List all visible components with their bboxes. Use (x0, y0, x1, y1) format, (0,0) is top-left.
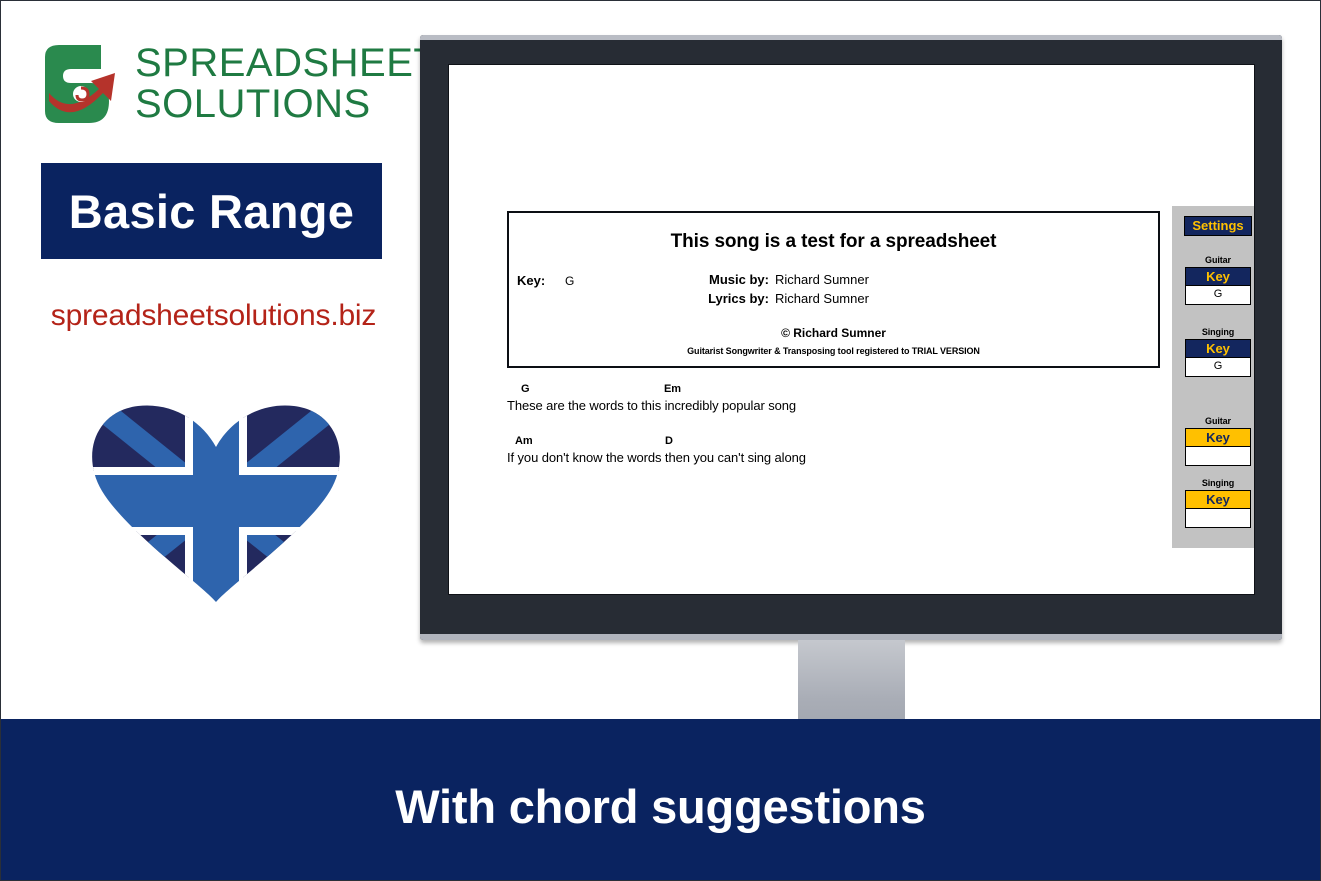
settings-panel: Settings Guitar Key G Singing Key G Guit… (1172, 206, 1255, 548)
settings-title-button[interactable]: Settings (1184, 216, 1252, 236)
credit-row: Lyrics by: Richard Sumner (659, 290, 989, 308)
monitor: This song is a test for a spreadsheet Ke… (420, 35, 1282, 640)
chord[interactable]: Am (515, 435, 533, 447)
lyric-block: G Em These are the words to this incredi… (507, 383, 1067, 413)
key-group-header: Key (1185, 339, 1251, 358)
key-field-label: Key: (517, 273, 545, 288)
logo-row: SPREADSHEET SOLUTIONS (41, 43, 386, 125)
chord-line: Am D (507, 435, 1067, 450)
key-group-caption: Singing (1185, 327, 1251, 337)
key-group-caption: Guitar (1185, 416, 1251, 426)
logo-wordmark: SPREADSHEET SOLUTIONS (135, 43, 438, 125)
key-group-value[interactable] (1185, 447, 1251, 466)
lyric-block: Am D If you don't know the words then yo… (507, 435, 1067, 465)
credit-row: Music by: Richard Sumner (659, 271, 989, 289)
chord[interactable]: G (521, 383, 529, 395)
key-group-value[interactable]: G (1185, 358, 1251, 377)
key-group-guitar-secondary: Guitar Key (1185, 416, 1251, 466)
credit-value-music[interactable]: Richard Sumner (775, 271, 869, 289)
range-banner-label: Basic Range (69, 184, 354, 239)
chord[interactable]: D (665, 435, 673, 447)
footer-tagline: With chord suggestions (1, 779, 1320, 834)
monitor-screen: This song is a test for a spreadsheet Ke… (448, 64, 1255, 595)
key-field-value[interactable]: G (565, 274, 574, 288)
copyright-line: © Richard Sumner (509, 326, 1158, 340)
key-group-header: Key (1185, 267, 1251, 286)
key-group-header: Key (1185, 428, 1251, 447)
key-group-guitar-primary: Guitar Key G (1185, 255, 1251, 305)
song-header-box: This song is a test for a spreadsheet Ke… (507, 211, 1160, 368)
footer-band: With chord suggestions (1, 719, 1320, 880)
union-jack-heart-icon (86, 399, 346, 604)
chord[interactable]: Em (664, 383, 681, 395)
spreadsheet-solutions-logo-icon (41, 43, 119, 125)
credit-value-lyrics[interactable]: Richard Sumner (775, 290, 869, 308)
site-url-text: spreadsheetsolutions.biz (41, 299, 386, 333)
key-group-value[interactable]: G (1185, 286, 1251, 305)
key-group-value[interactable] (1185, 509, 1251, 528)
brand-block: SPREADSHEET SOLUTIONS (41, 43, 386, 125)
key-group-singing-secondary: Singing Key (1185, 478, 1251, 528)
song-title: This song is a test for a spreadsheet (509, 231, 1158, 253)
key-group-singing-primary: Singing Key G (1185, 327, 1251, 377)
lyric-text[interactable]: These are the words to this incredibly p… (507, 398, 1067, 413)
chord-line: G Em (507, 383, 1067, 398)
credits-block: Music by: Richard Sumner Lyrics by: Rich… (659, 271, 989, 309)
registration-line: Guitarist Songwriter & Transposing tool … (509, 346, 1158, 356)
key-group-header: Key (1185, 490, 1251, 509)
spreadsheet-canvas: This song is a test for a spreadsheet Ke… (449, 65, 1254, 594)
credit-label-music: Music by: (659, 271, 775, 289)
promo-page: SPREADSHEET SOLUTIONS Basic Range spread… (0, 0, 1321, 881)
range-banner: Basic Range (41, 163, 382, 259)
lyric-text[interactable]: If you don't know the words then you can… (507, 450, 1067, 465)
monitor-bezel-top-highlight (420, 35, 1282, 40)
key-group-caption: Guitar (1185, 255, 1251, 265)
key-group-caption: Singing (1185, 478, 1251, 488)
credit-label-lyrics: Lyrics by: (659, 290, 775, 308)
lyrics-area: G Em These are the words to this incredi… (507, 383, 1067, 487)
